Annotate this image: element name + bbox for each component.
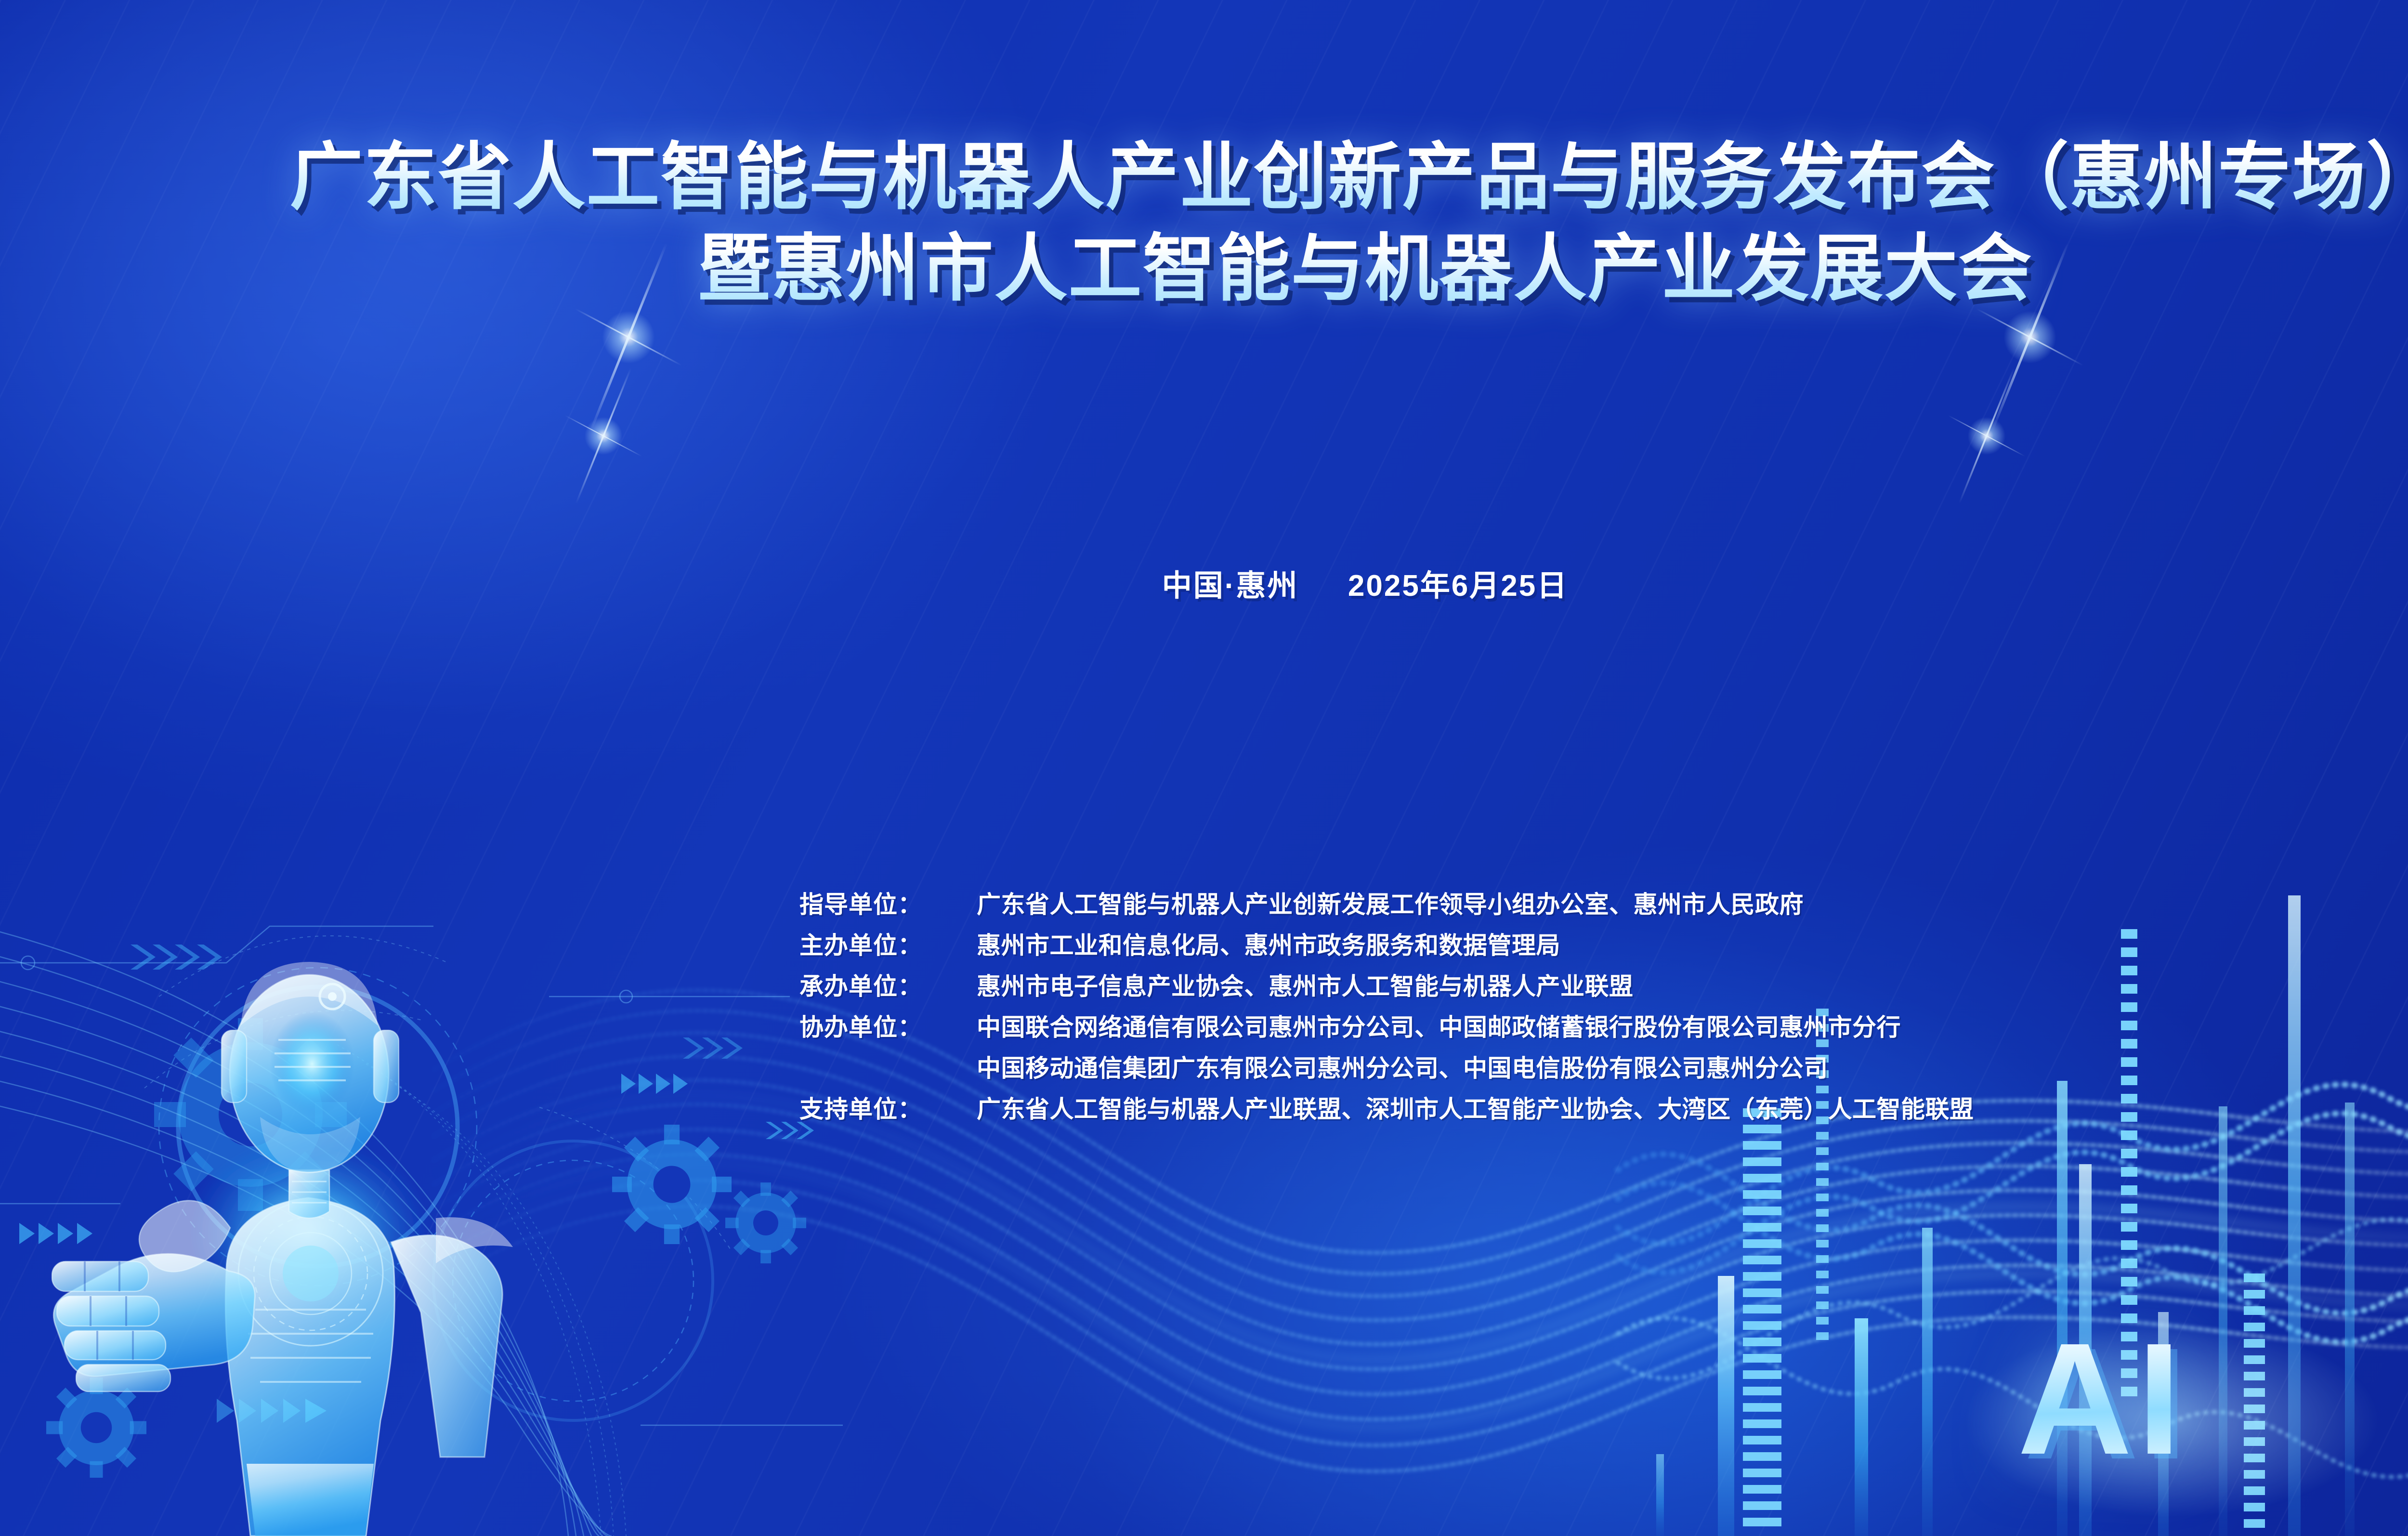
organizer-text-guidance: 广东省人工智能与机器人产业创新发展工作领导小组办公室、惠州市人民政府 bbox=[977, 885, 1804, 920]
organizer-text-coorganizer-cont: 中国移动通信集团广东有限公司惠州分公司、中国电信股份有限公司惠州分公司 bbox=[977, 1049, 1828, 1084]
subtitle-date: 2025年6月25日 bbox=[1348, 569, 1568, 603]
organizer-row-host: 主办单位： 惠州市工业和信息化局、惠州市政务服务和数据管理局 bbox=[799, 926, 1974, 961]
organizer-text-support: 广东省人工智能与机器人产业联盟、深圳市人工智能产业协会、大湾区（东莞）人工智能联… bbox=[977, 1090, 1974, 1125]
organizer-row-support: 支持单位： 广东省人工智能与机器人产业联盟、深圳市人工智能产业协会、大湾区（东莞… bbox=[799, 1090, 1974, 1125]
organizer-label-organizer: 承办单位： bbox=[799, 967, 977, 1002]
organizer-list: 指导单位： 广东省人工智能与机器人产业创新发展工作领导小组办公室、惠州市人民政府… bbox=[799, 885, 1974, 1125]
organizer-label-guidance: 指导单位： bbox=[799, 885, 977, 920]
organizer-row-coorganizer-cont: 中国移动通信集团广东有限公司惠州分公司、中国电信股份有限公司惠州分公司 bbox=[799, 1049, 1974, 1084]
organizer-label-coorganizer: 协办单位： bbox=[799, 1008, 977, 1043]
organizer-row-guidance: 指导单位： 广东省人工智能与机器人产业创新发展工作领导小组办公室、惠州市人民政府 bbox=[799, 885, 1974, 920]
organizer-text-organizer: 惠州市电子信息产业协会、惠州市人工智能与机器人产业联盟 bbox=[977, 967, 1634, 1002]
conference-banner: AI 广东省人工智能与机器人产业创新产品与服务发布会（惠州专场） 暨惠州市人工智… bbox=[0, 0, 2408, 1536]
subtitle-location: 中国·惠州 bbox=[1162, 569, 1299, 603]
title-line-2: 暨惠州市人工智能与机器人产业发展大会 bbox=[0, 226, 2408, 311]
robot-and-tech-decoration bbox=[0, 838, 843, 1536]
top-left-glow bbox=[0, 0, 1060, 722]
organizer-label-host: 主办单位： bbox=[799, 926, 977, 961]
organizer-text-host: 惠州市工业和信息化局、惠州市政务服务和数据管理局 bbox=[977, 926, 1560, 961]
subtitle-block: 中国·惠州 2025年6月25日 bbox=[0, 561, 2408, 604]
organizer-row-organizer: 承办单位： 惠州市电子信息产业协会、惠州市人工智能与机器人产业联盟 bbox=[799, 967, 1974, 1002]
organizer-label-support: 支持单位： bbox=[799, 1090, 977, 1125]
ai-wordmark: AI bbox=[2017, 1319, 2186, 1478]
organizer-text-coorganizer: 中国联合网络通信有限公司惠州市分公司、中国邮政储蓄银行股份有限公司惠州市分行 bbox=[977, 1008, 1901, 1043]
title-block: 广东省人工智能与机器人产业创新产品与服务发布会（惠州专场） 暨惠州市人工智能与机… bbox=[0, 135, 2408, 312]
title-line-1: 广东省人工智能与机器人产业创新产品与服务发布会（惠州专场） bbox=[0, 135, 2408, 220]
organizer-row-coorganizer: 协办单位： 中国联合网络通信有限公司惠州市分公司、中国邮政储蓄银行股份有限公司惠… bbox=[799, 1008, 1974, 1043]
